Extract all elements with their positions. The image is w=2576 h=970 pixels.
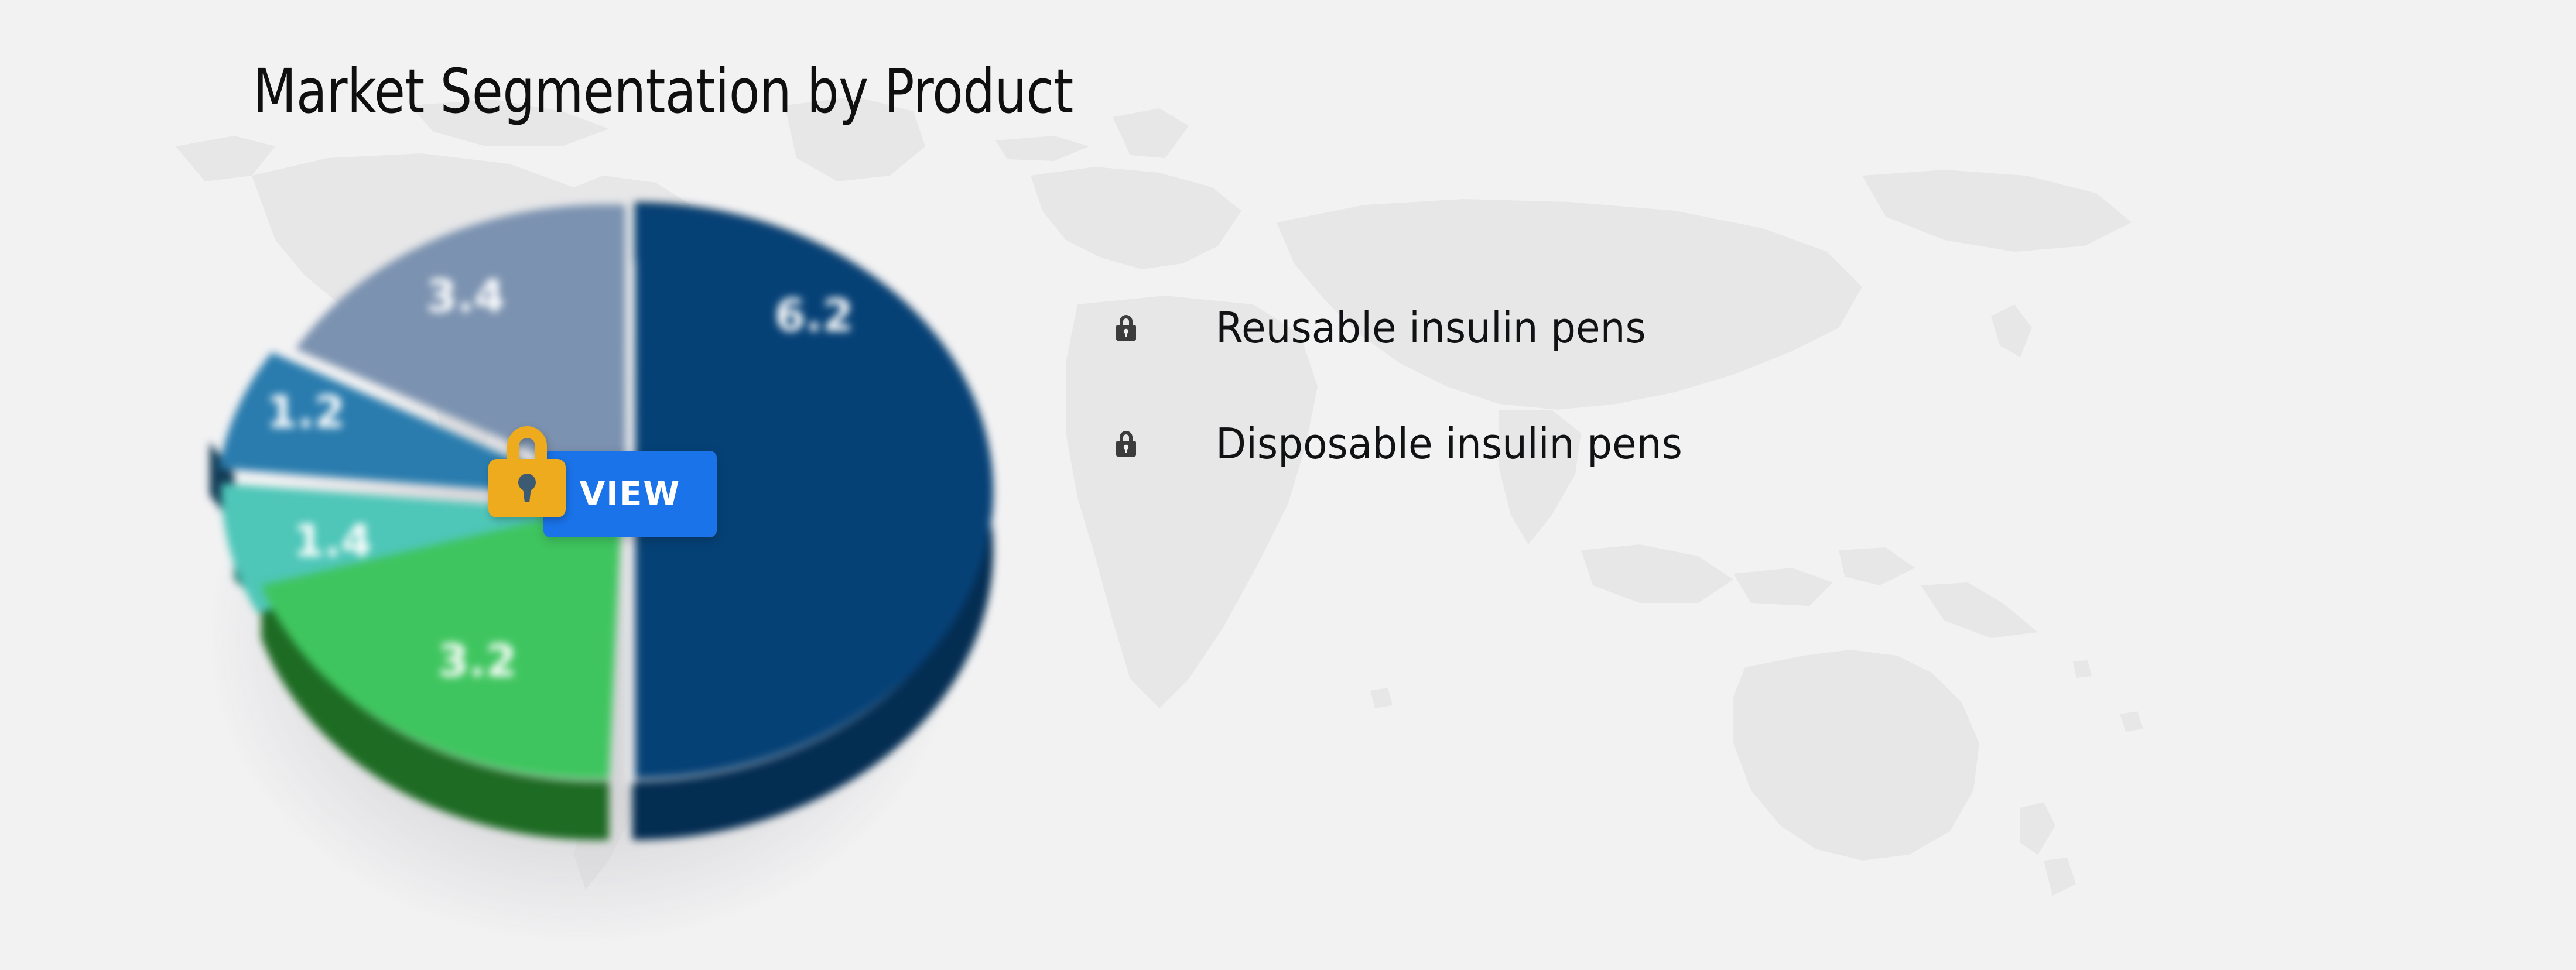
legend-item[interactable]: Disposable insulin pens xyxy=(1113,409,1991,479)
view-button-label: VIEW xyxy=(580,475,680,513)
slice-label-greyblue: 3.4 xyxy=(426,270,505,322)
legend-item-label: Reusable insulin pens xyxy=(1216,303,1646,352)
padlock-icon xyxy=(1113,429,1140,459)
page-title: Market Segmentation by Product xyxy=(253,56,1073,127)
slice-label-teal: 1.4 xyxy=(293,515,372,567)
pie-chart: 6.2 3.4 1.2 1.4 3.2 xyxy=(146,176,1036,948)
slice-label-midblue: 1.2 xyxy=(266,386,345,438)
legend-item[interactable]: Reusable insulin pens xyxy=(1113,293,1991,363)
slice-label-green: 3.2 xyxy=(438,635,517,687)
padlock-icon xyxy=(480,416,574,520)
padlock-icon xyxy=(1113,313,1140,343)
locked-content-overlay[interactable]: VIEW xyxy=(480,416,726,550)
legend: Reusable insulin pens Disposable insulin… xyxy=(1113,293,1991,525)
slice-label-navy: 6.2 xyxy=(775,289,854,341)
legend-item-label: Disposable insulin pens xyxy=(1216,419,1682,468)
slide-canvas: Market Segmentation by Product xyxy=(0,0,2576,970)
